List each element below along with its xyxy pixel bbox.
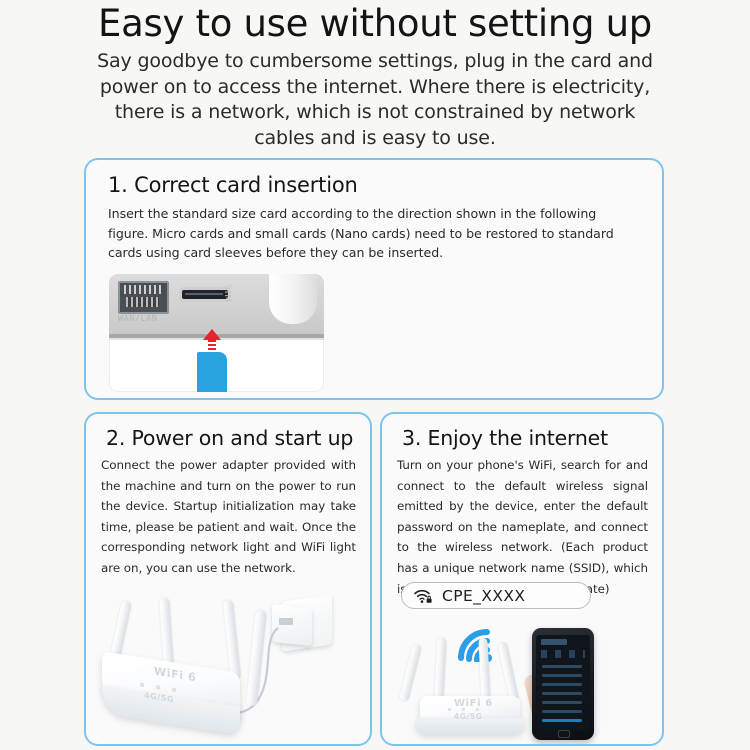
router-antenna [434,638,446,700]
page-subtitle: Say goodbye to cumbersome settings, plug… [95,49,655,151]
step-card-correct-card-insertion: 1. Correct card insertion Insert the sta… [84,158,664,400]
wifi-list-row [542,683,582,686]
sim-card-graphic [197,352,227,392]
sim-insertion-figure: WAN/LAN SIM [109,274,324,392]
wifi-list-row-selected [542,719,582,722]
card-title: 3. Enjoy the internet [382,414,662,451]
wifi-list-row [542,674,582,677]
phone-status-bar [541,639,567,645]
phone-home-button [558,730,570,738]
card-title: 2. Power on and start up [86,414,370,451]
wifi-list-row [542,692,582,695]
ethernet-port-icon [118,281,169,314]
step-card-power-on-and-start-up: 2. Power on and start up Connect the pow… [84,412,372,746]
ssid-label: CPE_XXXX [442,587,525,605]
router-power-adapter-figure: WiFi 6 4G/5G [86,596,370,746]
card-title: 1. Correct card insertion [86,160,662,198]
card-body-text: Turn on your phone's WiFi, search for an… [382,451,662,599]
router-model-label: 4G/5G [454,712,483,721]
router-antenna [399,644,422,702]
router-led-indicators [448,708,488,711]
phone-screen [536,635,590,730]
phone-app-icons [541,650,585,658]
router-phone-connection-figure: WiFi 6 4G/5G [382,612,664,746]
page-title: Easy to use without setting up [0,2,750,46]
wan-lan-label: WAN/LAN [118,314,157,324]
ssid-network-item[interactable]: CPE_XXXX [401,582,591,609]
wifi-list-row [542,665,582,668]
insertion-arrow-tail-icon [208,340,216,352]
insertion-arrow-icon [203,329,221,340]
wifi-list-row [542,710,582,713]
wifi-locked-icon [413,587,433,604]
step-card-enjoy-the-internet: 3. Enjoy the internet Turn on your phone… [380,412,664,746]
card-body-text: Insert the standard size card according … [86,198,662,263]
wifi-list-row [542,701,582,704]
smartphone-graphic [532,628,594,740]
page-header: Easy to use without setting up Say goodb… [0,0,750,151]
sim-slot-label: SIM [222,284,232,303]
antenna-base [269,274,317,324]
card-body-text: Connect the power adapter provided with … [86,451,370,579]
